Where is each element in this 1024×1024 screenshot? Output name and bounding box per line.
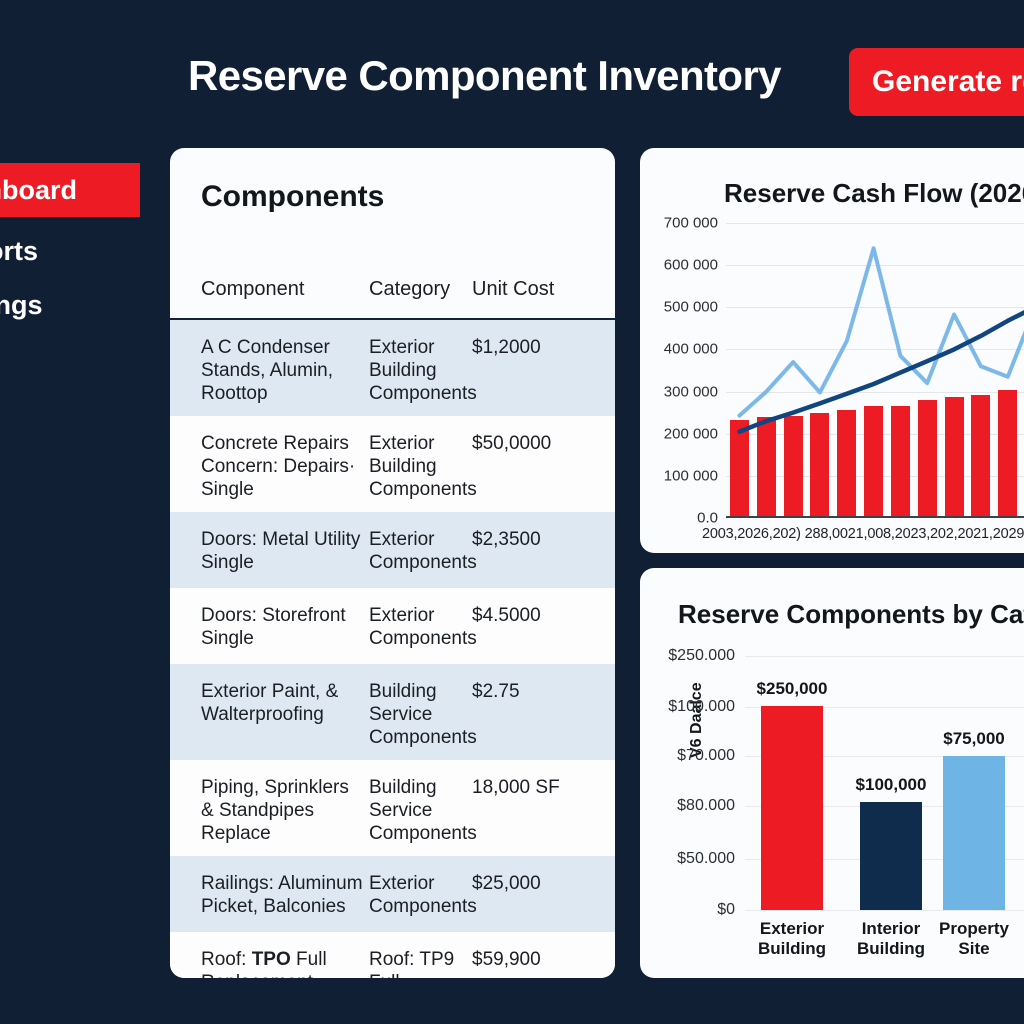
sidebar-item-label: Dashboard <box>0 175 77 206</box>
y-axis-tick: $70.000 <box>677 747 735 765</box>
cell-category: Roof: TP9 Full Replacement <box>369 948 469 978</box>
bar-value-label: $75,000 <box>943 729 1004 749</box>
table-row[interactable]: A C Condenser Stands, Alumin, RoottopExt… <box>170 320 615 416</box>
bar-category-label: Property Site <box>939 919 1009 959</box>
generate-report-button[interactable]: Generate report <box>849 48 1024 116</box>
cash-flow-x-axis-labels: 2003,2026,202) 288,0021,008,2023,202,202… <box>702 526 1024 542</box>
table-row[interactable]: Railings: Aluminum Picket, BalconiesExte… <box>170 856 615 932</box>
bar-category-label: Interior Building <box>857 919 925 959</box>
components-table-title: Components <box>201 180 384 214</box>
sidebar-item-dashboard[interactable]: Dashboard <box>0 163 140 217</box>
column-header-category: Category <box>369 278 450 301</box>
y-axis-tick: 200 000 <box>664 425 718 442</box>
components-table-header: Component Category Unit Cost <box>170 238 615 320</box>
category-chart-title: Reserve Components by Cat <box>678 599 1024 630</box>
y-axis-tick: 100 000 <box>664 467 718 484</box>
cell-component: A C Condenser Stands, Alumin, Roottop <box>201 336 363 405</box>
cell-component: Doors: Metal Utility Single <box>201 528 363 574</box>
sidebar-item-reports[interactable]: Reports <box>0 224 140 278</box>
page-title: Reserve Component Inventory <box>188 52 781 100</box>
y-axis-tick: $250.000 <box>668 647 735 665</box>
bar-value-label: $100,000 <box>856 775 927 795</box>
line-expenditures <box>739 248 1024 415</box>
bar-rect <box>943 756 1005 910</box>
table-row[interactable]: Exterior Paint, & WalterproofingBuilding… <box>170 664 615 760</box>
category-bar-column: $75,000Property Site <box>943 756 1005 910</box>
line-trend <box>739 307 1024 431</box>
cell-unit-cost: $50,0000 <box>472 432 602 455</box>
category-plot-area: $0$50.000$80.000$70.000$100.000$250.000$… <box>745 656 1024 910</box>
bar-rect <box>860 802 922 910</box>
cell-category: Building Service Components <box>369 776 469 845</box>
gridline <box>745 656 1024 657</box>
bar-rect <box>761 706 823 910</box>
cell-component: Concrete Repairs Concern: Depairs· Singl… <box>201 432 363 501</box>
cell-component: Piping, Sprinklers & Standpipes Replace <box>201 776 363 845</box>
table-row[interactable]: Doors: Storefront SingleExterior Compone… <box>170 588 615 664</box>
reserve-components-by-category-card: Reserve Components by Cat V6 Daalce $0$5… <box>640 568 1024 978</box>
sidebar: AT Dashboard Reports Settings <box>0 0 140 1024</box>
category-bar-column: $250,000Exterior Building <box>761 706 823 910</box>
table-row[interactable]: Doors: Metal Utility SingleExterior Comp… <box>170 512 615 588</box>
bar-category-label: Exterior Building <box>758 919 826 959</box>
y-axis-tick: 500 000 <box>664 299 718 316</box>
cell-category: Building Service Components <box>369 680 469 749</box>
table-row[interactable]: Concrete Repairs Concern: Depairs· Singl… <box>170 416 615 512</box>
cell-category: Exterior Components <box>369 872 469 918</box>
y-axis-tick: $50.000 <box>677 850 735 868</box>
components-table-body: A C Condenser Stands, Alumin, RoottopExt… <box>170 320 615 978</box>
sidebar-item-settings[interactable]: Settings <box>0 278 140 332</box>
table-row[interactable]: Piping, Sprinklers & Standpipes ReplaceB… <box>170 760 615 856</box>
y-axis-tick: 600 000 <box>664 257 718 274</box>
cell-unit-cost: $4.5000 <box>472 604 602 627</box>
cell-category: Exterior Building Components <box>369 432 469 501</box>
cell-unit-cost: $2.75 <box>472 680 602 703</box>
cell-unit-cost: 18,000 SF <box>472 776 602 799</box>
y-axis-tick: $100.000 <box>668 698 735 716</box>
cell-unit-cost: $25,000 <box>472 872 602 895</box>
y-axis-tick: 700 000 <box>664 215 718 232</box>
y-axis-tick: $0 <box>717 901 735 919</box>
cell-component: Doors: Storefront Single <box>201 604 363 650</box>
cell-category: Exterior Components <box>369 528 469 574</box>
reserve-cash-flow-chart-card: Reserve Cash Flow (2026-20 0.0100 000200… <box>640 148 1024 553</box>
cell-unit-cost: $1,2000 <box>472 336 602 359</box>
cell-unit-cost: $2,3500 <box>472 528 602 551</box>
cell-category: Exterior Components <box>369 604 469 650</box>
cell-component: Roof: TPO Full Replacement <box>201 948 363 978</box>
y-axis-tick: 400 000 <box>664 341 718 358</box>
y-axis-tick: 0.0 <box>697 510 718 527</box>
table-row[interactable]: Roof: TPO Full ReplacementRoof: TP9 Full… <box>170 932 615 978</box>
sidebar-item-label: Reports <box>0 236 38 267</box>
gridline <box>745 910 1024 911</box>
cell-component: Railings: Aluminum Picket, Balconies <box>201 872 363 918</box>
app-logo: AT <box>0 52 140 97</box>
cell-category: Exterior Building Components <box>369 336 469 405</box>
cash-flow-plot-area: 0.0100 000200 000300 000400 000500 00060… <box>726 223 1024 518</box>
column-header-unit-cost: Unit Cost <box>472 278 554 301</box>
sidebar-item-label: Settings <box>0 290 43 321</box>
cell-component: Exterior Paint, & Walterproofing <box>201 680 363 726</box>
category-bar-column: $100,000Interior Building <box>860 802 922 910</box>
cell-unit-cost: $59,900 <box>472 948 602 971</box>
y-axis-tick: $80.000 <box>677 797 735 815</box>
cash-flow-lines <box>726 223 1024 518</box>
cash-flow-chart-title: Reserve Cash Flow (2026-20 <box>724 178 1024 209</box>
column-header-component: Component <box>201 278 304 301</box>
components-table-card: Components Component Category Unit Cost … <box>170 148 615 978</box>
y-axis-tick: 300 000 <box>664 383 718 400</box>
bar-value-label: $250,000 <box>757 679 828 699</box>
